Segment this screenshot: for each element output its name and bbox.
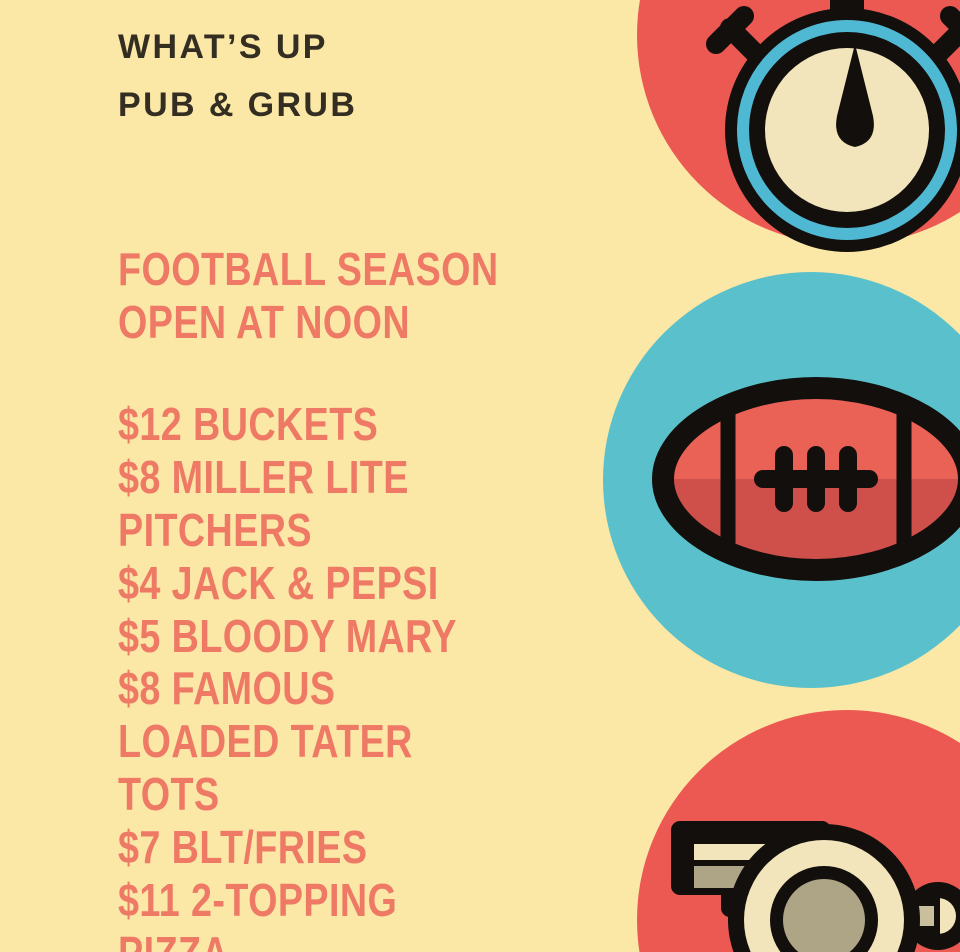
stopwatch-icon	[682, 0, 960, 260]
menu-item: $5 BLOODY MARY	[118, 610, 626, 663]
football-icon	[651, 372, 960, 587]
menu-item: $4 JACK & PEPSI	[118, 557, 626, 610]
menu-item: $7 BLT/FRIES	[118, 821, 626, 874]
text-column: WHAT’S UP PUB & GRUB FOOTBALL SEASON OPE…	[118, 0, 618, 952]
headline-text: FOOTBALL SEASON OPEN AT NOON	[118, 243, 499, 349]
menu-item: $8 MILLER LITE PITCHERS	[118, 451, 626, 557]
menu-item: $8 FAMOUS LOADED TATER TOTS	[118, 662, 626, 821]
whistle-icon	[672, 812, 960, 952]
poster-canvas: WHAT’S UP PUB & GRUB FOOTBALL SEASON OPE…	[0, 0, 960, 952]
menu-item: $12 BUCKETS	[118, 398, 626, 451]
poster-title: WHAT’S UP PUB & GRUB	[118, 18, 357, 135]
menu-list: $12 BUCKETS $8 MILLER LITE PITCHERS $4 J…	[118, 398, 626, 952]
menu-item: $11 2-TOPPING PIZZA	[118, 874, 626, 952]
